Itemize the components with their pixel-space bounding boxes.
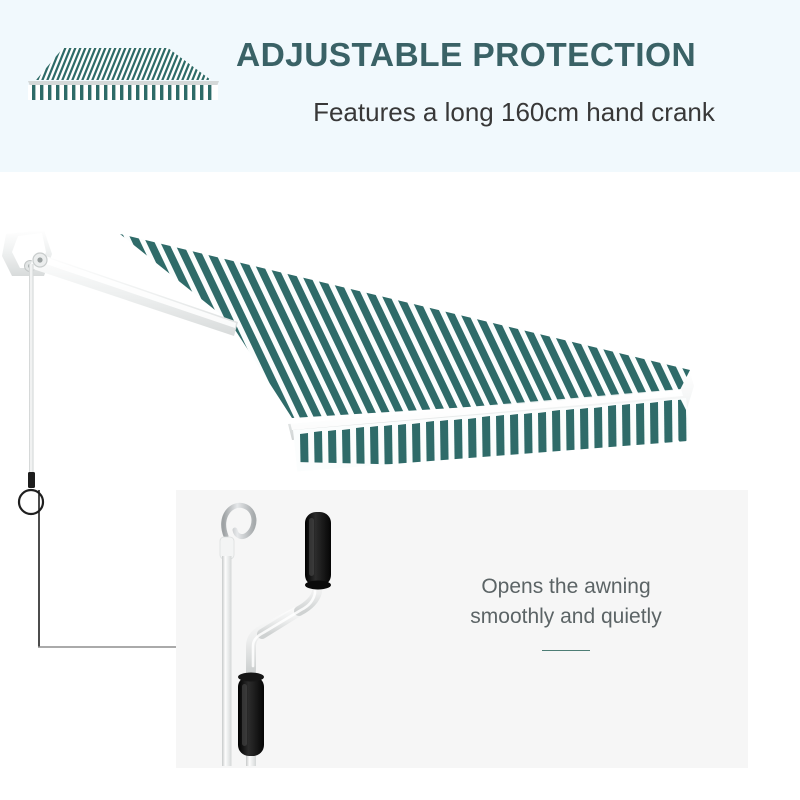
crank-rod [28, 264, 35, 488]
product-feature-image: ADJUSTABLE PROTECTION Features a long 16… [0, 0, 800, 800]
crank-bottom-grip [238, 676, 264, 756]
header-band: ADJUSTABLE PROTECTION Features a long 16… [0, 0, 800, 172]
inset-caption-line-2: smoothly and quietly [406, 602, 726, 632]
inset-caption-line-1: Opens the awning [406, 572, 726, 602]
striped-awning-icon [8, 36, 220, 108]
page-subtitle: Features a long 160cm hand crank [236, 98, 792, 128]
page-title: ADJUSTABLE PROTECTION [236, 39, 792, 73]
retractable-awning-photo [0, 172, 800, 502]
inset-caption: Opens the awning smoothly and quietly [406, 572, 726, 651]
caption-divider [542, 650, 590, 652]
z-crank-arm [238, 512, 331, 766]
hand-crank-handle [204, 494, 374, 766]
crank-top-grip [305, 512, 331, 586]
feature-inset-panel: Opens the awning smoothly and quietly [176, 490, 748, 768]
